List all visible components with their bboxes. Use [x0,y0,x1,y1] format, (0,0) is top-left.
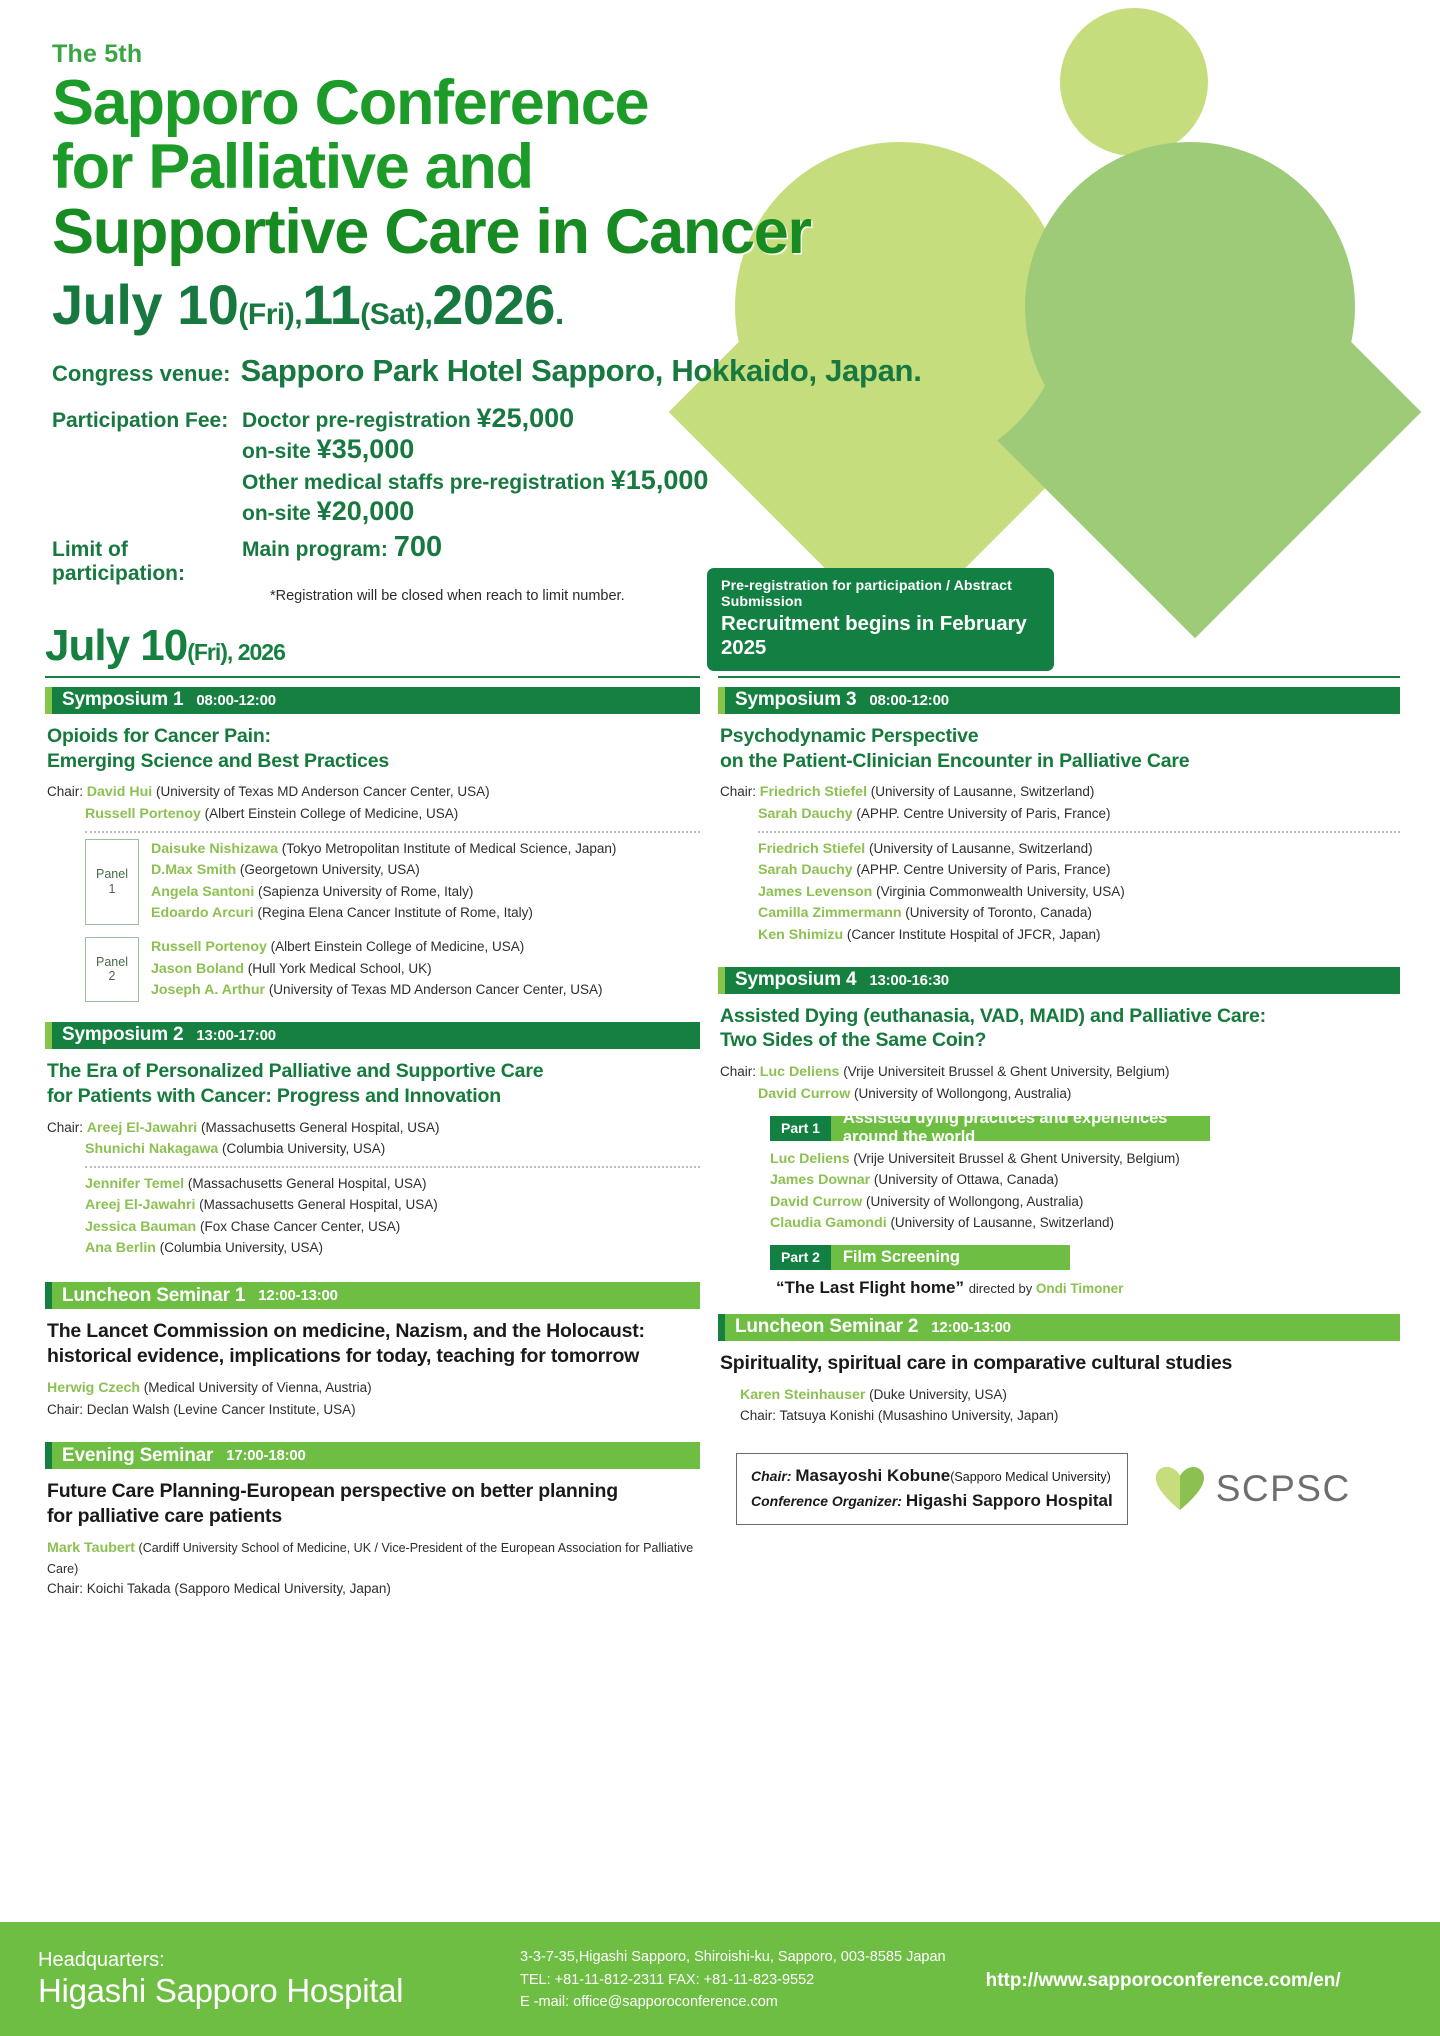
title-line-3: Supportive Care in Cancer [52,200,1440,264]
date-day-1-weekday: (Fri), [238,298,302,331]
fee-doctor-pre: Doctor pre-registration ¥25,000 [242,403,574,434]
session-bar: Symposium 2 13:00-17:00 [45,1022,700,1049]
speaker-name: Herwig Czech [47,1380,140,1396]
bar-tab [718,967,725,994]
chair-name: Luc Deliens [760,1064,840,1080]
fee-other-pre-amount: ¥15,000 [611,465,709,495]
chair-block: Chair: Areej El-Jawahri (Massachusetts G… [47,1118,700,1161]
session-luncheon-seminar-1: Luncheon Seminar 1 12:00-13:00 The Lance… [45,1282,700,1420]
speaker-row: Karen Steinhauser (Duke University, USA) [740,1385,1400,1407]
session-bar: Symposium 4 13:00-16:30 [718,967,1400,994]
speaker-affiliation: (Fox Chase Cancer Center, USA) [200,1219,400,1234]
speaker-name: Claudia Gamondi [770,1215,887,1231]
session-title-line: for Patients with Cancer: Progress and I… [47,1084,700,1109]
session-symposium-3: Symposium 3 08:00-12:00 Psychodynamic Pe… [718,687,1400,947]
speaker-affiliation: (Tokyo Metropolitan Institute of Medical… [282,841,617,856]
bar-tab [45,1282,52,1309]
registration-callout: Pre-registration for participation / Abs… [707,568,1054,671]
speaker-affiliation: (Virginia Commonwealth University, USA) [876,884,1125,899]
bar-tab [718,687,725,714]
day1-rule [45,676,700,678]
session-title-line: Spirituality, spiritual care in comparat… [720,1351,1400,1376]
day2-column: July 11(Sat), 2026 Symposium 3 08:00-12:… [700,624,1400,1599]
speaker-affiliation: (University of Toronto, Canada) [905,905,1092,920]
limit-label: Limit of participation: [52,538,242,586]
session-time: 12:00-13:00 [931,1319,1011,1336]
session-title-line: The Era of Personalized Palliative and S… [47,1059,700,1084]
hero-header: The 5th Sapporo Conference for Palliativ… [0,0,1440,604]
session-bar: Luncheon Seminar 1 12:00-13:00 [45,1282,700,1309]
speaker-affiliation: (Albert Einstein College of Medicine, US… [271,939,525,954]
speaker-row: Sarah Dauchy (APHP. Centre University of… [758,860,1400,882]
chair-row: Russell Portenoy (Albert Einstein Colleg… [47,804,700,826]
fee-label: Participation Fee: [52,409,242,433]
session-name: Luncheon Seminar 1 [62,1285,245,1307]
chair-row: David Currow (University of Wollongong, … [720,1084,1400,1106]
session-title-line: Emerging Science and Best Practices [47,749,700,774]
headquarters-label: Headquarters: [38,1949,520,1972]
divider [758,831,1400,833]
speaker-affiliation: (Vrije Universiteit Brussel & Ghent Univ… [853,1151,1179,1166]
part1-label: Part 1 [770,1116,831,1141]
session-bar: Luncheon Seminar 2 12:00-13:00 [718,1314,1400,1341]
speaker-affiliation: (Medical University of Vienna, Austria) [144,1380,372,1395]
session-title-line: Assisted Dying (euthanasia, VAD, MAID) a… [720,1004,1400,1029]
speaker-affiliation: (University of Lausanne, Switzerland) [890,1215,1114,1230]
speaker-list: Karen Steinhauser (Duke University, USA)… [740,1385,1400,1427]
speaker-affiliation: (Georgetown University, USA) [240,862,420,877]
panel-speakers: Russell Portenoy (Albert Einstein Colleg… [151,937,700,1002]
speaker-name: Daisuke Nishizawa [151,841,278,857]
session-title-line: for palliative care patients [47,1504,700,1529]
fee-other-pre-text: Other medical staffs pre-registration [242,471,611,494]
part2-label: Part 2 [770,1245,831,1270]
session-name: Symposium 1 [62,689,183,711]
fee-doctor-onsite-amount: ¥35,000 [317,434,415,464]
session-time: 13:00-17:00 [196,1027,276,1044]
speaker-row: Angela Santoni (Sapienza University of R… [151,882,700,904]
speaker-row: Friedrich Stiefel (University of Lausann… [758,839,1400,861]
day1-column: July 10(Fri), 2026 Symposium 1 08:00-12:… [0,624,700,1599]
speaker-row: Camilla Zimmermann (University of Toront… [758,903,1400,925]
session-time: 12:00-13:00 [258,1287,338,1304]
date-day-2-weekday: (Sat), [360,298,432,331]
chair-row: Chair: Luc Deliens (Vrije Universiteit B… [720,1062,1400,1084]
scpsc-logo-text: SCPSC [1216,1468,1351,1510]
organizer-box: Chair: Masayoshi Kobune(Sapporo Medical … [736,1453,1128,1525]
speaker-name: Mark Taubert [47,1540,135,1556]
fee-row-other-onsite: on-site ¥20,000 [242,496,1440,527]
speaker-name: Camilla Zimmermann [758,905,902,921]
contact-block: 3-3-7-35,Higashi Sapporo, Shiroishi-ku, … [520,1944,946,2013]
speaker-row: D.Max Smith (Georgetown University, USA) [151,860,700,882]
session-title: The Lancet Commission on medicine, Nazis… [47,1319,700,1369]
panel-label: Panel [96,955,128,969]
speaker-list: Friedrich Stiefel (University of Lausann… [758,839,1400,947]
fee-doctor-pre-text: Doctor pre-registration [242,409,477,432]
edition-label: The 5th [52,40,1440,69]
chair-row: Chair: Friedrich Stiefel (University of … [720,782,1400,804]
session-title: Spirituality, spiritual care in comparat… [720,1351,1400,1376]
chair-affiliation: (Columbia University, USA) [222,1141,385,1156]
speaker-name: Jessica Bauman [85,1219,196,1235]
speaker-row: James Downar (University of Ottawa, Cana… [770,1170,1400,1192]
divider [85,831,700,833]
session-name: Evening Seminar [62,1445,213,1467]
session-name: Symposium 2 [62,1024,183,1046]
speaker-row: James Levenson (Virginia Commonwealth Un… [758,882,1400,904]
speaker-name: Luc Deliens [770,1151,850,1167]
divider [85,1166,700,1168]
panel-label-box: Panel 2 [85,937,139,1002]
session-title: Future Care Planning-European perspectiv… [47,1479,700,1529]
session-title-line: Two Sides of the Same Coin? [720,1028,1400,1053]
date-month: July [52,273,162,336]
speaker-name: David Currow [770,1194,862,1210]
bar-tab [45,687,52,714]
organizer-line: Conference Organizer: Higashi Sapporo Ho… [751,1488,1113,1514]
session-title-line: Psychodynamic Perspective [720,724,1400,749]
chair-block: Chair: Friedrich Stiefel (University of … [720,782,1400,825]
chair-affiliation: (Vrije Universiteit Brussel & Ghent Univ… [843,1064,1169,1079]
session-title-line: The Lancet Commission on medicine, Nazis… [47,1319,700,1344]
part2-title: Film Screening [831,1245,1070,1270]
speaker-name: D.Max Smith [151,862,236,878]
speaker-affiliation: (Duke University, USA) [869,1387,1007,1402]
session-time: 17:00-18:00 [226,1447,306,1464]
date-year: 2026 [432,273,555,336]
chair-name: Shunichi Nakagawa [85,1141,218,1157]
session-symposium-4: Symposium 4 13:00-16:30 Assisted Dying (… [718,967,1400,1298]
chair-label: Chair: [47,1120,83,1135]
chair-row: Chair: Koichi Takada (Sapporo Medical Un… [47,1579,700,1600]
session-title-line: on the Patient-Clinician Encounter in Pa… [720,749,1400,774]
venue-row: Congress venue: Sapporo Park Hotel Sappo… [52,353,1440,389]
date-period: . [555,294,564,332]
callout-subtitle: Pre-registration for participation / Abs… [721,578,1040,610]
panel-speakers: Daisuke Nishizawa (Tokyo Metropolitan In… [151,839,700,925]
speaker-row: Joseph A. Arthur (University of Texas MD… [151,980,700,1002]
speaker-affiliation: (Massachusetts General Hospital, USA) [199,1197,438,1212]
session-title: Opioids for Cancer Pain: Emerging Scienc… [47,724,700,774]
speaker-name: Areej El-Jawahri [85,1197,195,1213]
chair-affiliation: (University of Texas MD Anderson Cancer … [156,784,490,799]
limit-number: 700 [394,531,442,563]
speaker-row: Jason Boland (Hull York Medical School, … [151,959,700,981]
session-title-line: historical evidence, implications for to… [47,1344,700,1369]
speaker-row: Edoardo Arcuri (Regina Elena Cancer Inst… [151,903,700,925]
headquarters-block: Headquarters: Higashi Sapporo Hospital [0,1949,520,2010]
chair-affiliation: (Albert Einstein College of Medicine, US… [205,806,459,821]
organizer-chair-name: Masayoshi Kobune [795,1466,950,1485]
fee-doctor-pre-amount: ¥25,000 [477,403,575,433]
chair-affiliation: (Massachusetts General Hospital, USA) [201,1120,440,1135]
fee-other-onsite-amount: ¥20,000 [317,496,415,526]
speaker-row: Areej El-Jawahri (Massachusetts General … [85,1195,700,1217]
session-time: 13:00-16:30 [869,972,949,989]
session-name: Luncheon Seminar 2 [735,1316,918,1338]
speaker-name: Ana Berlin [85,1240,156,1256]
speaker-row: Ana Berlin (Columbia University, USA) [85,1238,700,1260]
chair-row: Chair: Areej El-Jawahri (Massachusetts G… [47,1118,700,1140]
callout-title: Recruitment begins in February 2025 [721,612,1040,660]
speaker-row: Russell Portenoy (Albert Einstein Colleg… [151,937,700,959]
chair-row: Chair: David Hui (University of Texas MD… [47,782,700,804]
chair-row: Chair: Tatsuya Konishi (Musashino Univer… [740,1406,1400,1427]
speaker-list: Mark Taubert (Cardiff University School … [47,1538,700,1599]
conference-dates: July 10(Fri),11(Sat),2026. [52,276,1440,335]
panel-group: Panel 2 Russell Portenoy (Albert Einstei… [85,937,700,1002]
speaker-row: Luc Deliens (Vrije Universiteit Brussel … [770,1149,1400,1171]
speaker-affiliation: (APHP. Centre University of Paris, Franc… [856,862,1110,877]
organizer-chair-line: Chair: Masayoshi Kobune(Sapporo Medical … [751,1463,1113,1489]
organizer-name: Higashi Sapporo Hospital [906,1491,1113,1510]
speaker-affiliation: (Sapienza University of Rome, Italy) [258,884,473,899]
speaker-affiliation: (Columbia University, USA) [160,1240,323,1255]
day1-title-main: July 10 [45,621,187,670]
panel-group: Panel 1 Daisuke Nishizawa (Tokyo Metropo… [85,839,700,925]
speaker-name: Edoardo Arcuri [151,905,254,921]
session-title: Psychodynamic Perspective on the Patient… [720,724,1400,774]
speaker-row: Ken Shimizu (Cancer Institute Hospital o… [758,925,1400,947]
session-name: Symposium 4 [735,969,856,991]
venue-value: Sapporo Park Hotel Sapporo, Hokkaido, Ja… [241,353,922,389]
title-line-1: Sapporo Conference [52,71,1440,135]
organizer-chair-affiliation: (Sapporo Medical University) [950,1470,1110,1484]
chair-name: Friedrich Stiefel [760,784,867,800]
speaker-name: Angela Santoni [151,884,254,900]
speaker-affiliation: (Hull York Medical School, UK) [248,961,432,976]
chair-affiliation: (University of Lausanne, Switzerland) [871,784,1095,799]
part1-speaker-list: Luc Deliens (Vrije Universiteit Brussel … [770,1149,1400,1235]
speaker-affiliation: (Regina Elena Cancer Institute of Rome, … [258,905,533,920]
chair-affiliation: (University of Wollongong, Australia) [854,1086,1071,1101]
film-row: “The Last Flight home” directed by Ondi … [776,1278,1400,1298]
heart-logo-icon [1154,1465,1206,1513]
fee-doctor-onsite-text: on-site [242,440,317,463]
chair-row: Shunichi Nakagawa (Columbia University, … [47,1139,700,1161]
speaker-row: David Currow (University of Wollongong, … [770,1192,1400,1214]
session-evening-seminar: Evening Seminar 17:00-18:00 Future Care … [45,1442,700,1599]
speaker-row: Jessica Bauman (Fox Chase Cancer Center,… [85,1217,700,1239]
chair-row: Sarah Dauchy (APHP. Centre University of… [720,804,1400,826]
speaker-name: James Downar [770,1172,870,1188]
chair-row: Chair: Declan Walsh (Levine Cancer Insti… [47,1400,700,1421]
speaker-name: Russell Portenoy [151,939,267,955]
speaker-name: Joseph A. Arthur [151,982,265,998]
fee-other-onsite-text: on-site [242,502,317,525]
speaker-affiliation: (Cancer Institute Hospital of JFCR, Japa… [847,927,1101,942]
date-day-2: 11 [302,273,360,336]
date-day-1: 10 [177,273,238,336]
speaker-list: Herwig Czech (Medical University of Vien… [47,1378,700,1420]
speaker-name: Jason Boland [151,961,244,977]
speaker-name: Friedrich Stiefel [758,841,865,857]
chair-name: David Hui [87,784,152,800]
contact-address: 3-3-7-35,Higashi Sapporo, Shiroishi-ku, … [520,1946,946,1968]
fee-row-doctor-onsite: on-site ¥35,000 [242,434,1440,465]
speaker-name: Ken Shimizu [758,927,843,943]
session-bar: Evening Seminar 17:00-18:00 [45,1442,700,1469]
chair-name: Russell Portenoy [85,806,201,822]
speaker-row: Herwig Czech (Medical University of Vien… [47,1378,700,1400]
panel-label-box: Panel 1 [85,839,139,925]
website-url[interactable]: http://www.sapporoconference.com/en/ [986,1970,1341,1992]
session-title: The Era of Personalized Palliative and S… [47,1059,700,1109]
session-time: 08:00-12:00 [196,692,276,709]
chair-label: Chair: [720,1064,756,1079]
speaker-name: Jennifer Temel [85,1176,184,1192]
chair-label: Chair: [47,784,83,799]
headquarters-name: Higashi Sapporo Hospital [38,1972,520,2010]
scpsc-logo: SCPSC [1154,1465,1351,1513]
chair-name: Areej El-Jawahri [87,1120,197,1136]
venue-label: Congress venue: [52,361,231,387]
panel-number: 2 [109,969,116,983]
fee-row-doctor-pre: Participation Fee: Doctor pre-registrati… [52,403,1440,434]
title-line-2: for Palliative and [52,135,1440,199]
chair-affiliation: (APHP. Centre University of Paris, Franc… [856,806,1110,821]
speaker-name: James Levenson [758,884,872,900]
panel-label: Panel [96,867,128,881]
day1-title-sub: (Fri), 2026 [187,639,285,665]
speaker-affiliation: (University of Wollongong, Australia) [866,1194,1083,1209]
session-symposium-2: Symposium 2 13:00-17:00 The Era of Perso… [45,1022,700,1260]
fee-row-other-pre: Other medical staffs pre-registration ¥1… [242,465,1440,496]
speaker-name: Karen Steinhauser [740,1387,865,1403]
chair-name: Sarah Dauchy [758,806,853,822]
chair-block: Chair: Luc Deliens (Vrije Universiteit B… [720,1062,1400,1105]
day1-title: July 10(Fri), 2026 [45,624,700,668]
part2-bar: Part 2 Film Screening [770,1245,1070,1270]
film-director: Ondi Timoner [1036,1281,1124,1296]
speaker-name: Sarah Dauchy [758,862,853,878]
footer: Headquarters: Higashi Sapporo Hospital 3… [0,1922,1440,2036]
chair-label: Chair: [720,784,756,799]
session-time: 08:00-12:00 [869,692,949,709]
part1-title: Assisted dying practices and experiences… [831,1116,1210,1141]
session-luncheon-seminar-2: Luncheon Seminar 2 12:00-13:00 Spiritual… [718,1314,1400,1427]
contact-tel-fax: TEL: +81-11-812-2311 FAX: +81-11-823-955… [520,1969,946,1991]
chair-name: David Currow [758,1086,850,1102]
session-title-line: Opioids for Cancer Pain: [47,724,700,749]
limit-value: Main program: 700 [242,531,442,564]
speaker-affiliation: (University of Lausanne, Switzerland) [869,841,1093,856]
speaker-affiliation: (University of Texas MD Anderson Cancer … [269,982,603,997]
bar-tab [45,1022,52,1049]
contact-email: E -mail: office@sapporoconference.com [520,1991,946,2013]
session-bar: Symposium 1 08:00-12:00 [45,687,700,714]
chair-block: Chair: David Hui (University of Texas MD… [47,782,700,825]
bar-tab [718,1314,725,1341]
day2-rule [718,676,1400,678]
session-title: Assisted Dying (euthanasia, VAD, MAID) a… [720,1004,1400,1054]
organizer-label: Conference Organizer: [751,1493,902,1509]
page-title: Sapporo Conference for Palliative and Su… [52,71,1440,264]
session-name: Symposium 3 [735,689,856,711]
speaker-row: Claudia Gamondi (University of Lausanne,… [770,1213,1400,1235]
limit-text: Main program: [242,538,394,561]
speaker-affiliation: (Massachusetts General Hospital, USA) [188,1176,427,1191]
organizer-row: Chair: Masayoshi Kobune(Sapporo Medical … [736,1453,1400,1525]
session-bar: Symposium 3 08:00-12:00 [718,687,1400,714]
film-directed-by-label: directed by [969,1281,1036,1296]
organizer-chair-label: Chair: [751,1468,791,1484]
session-title-line: Future Care Planning-European perspectiv… [47,1479,700,1504]
speaker-row: Daisuke Nishizawa (Tokyo Metropolitan In… [151,839,700,861]
bar-tab [45,1442,52,1469]
program-section: July 10(Fri), 2026 Symposium 1 08:00-12:… [0,624,1440,1599]
speaker-row: Mark Taubert (Cardiff University School … [47,1538,700,1579]
speaker-list: Jennifer Temel (Massachusetts General Ho… [85,1174,700,1260]
panel-number: 1 [109,882,116,896]
film-title: “The Last Flight home” [776,1278,964,1297]
speaker-affiliation: (University of Ottawa, Canada) [874,1172,1059,1187]
session-symposium-1: Symposium 1 08:00-12:00 Opioids for Canc… [45,687,700,1002]
speaker-affiliation: (Cardiff University School of Medicine, … [47,1541,693,1576]
part1-bar: Part 1 Assisted dying practices and expe… [770,1116,1210,1141]
speaker-row: Jennifer Temel (Massachusetts General Ho… [85,1174,700,1196]
